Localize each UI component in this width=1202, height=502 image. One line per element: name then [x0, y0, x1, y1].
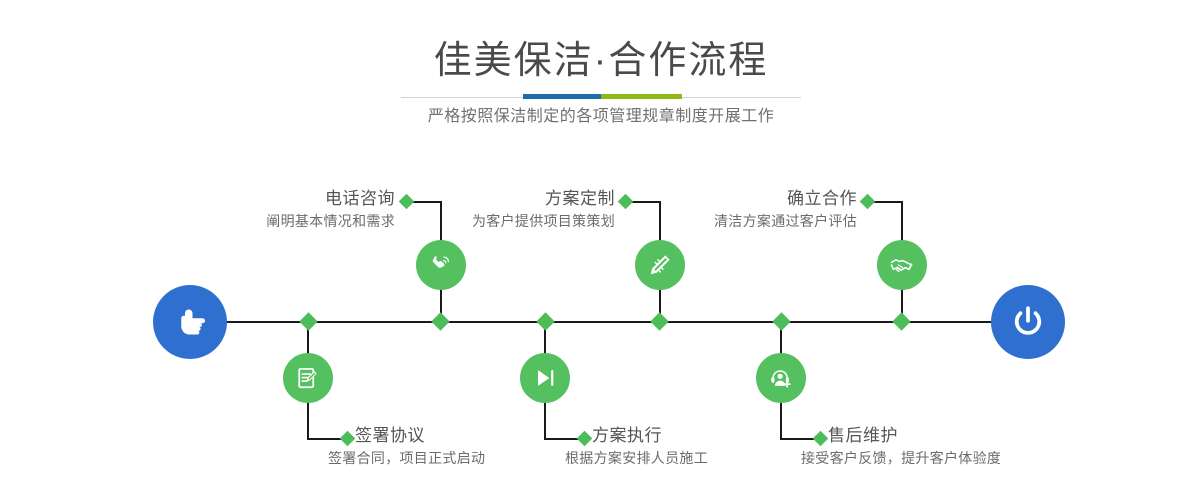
- marker-step-6-axis: [772, 312, 790, 330]
- page-subtitle: 严格按照保洁制定的各项管理规章制度开展工作: [0, 104, 1202, 130]
- handshake-icon: [888, 251, 916, 279]
- step-node-1[interactable]: [416, 240, 466, 290]
- step-2-name: 签署协议: [355, 425, 485, 447]
- step-3-name: 方案定制: [390, 188, 615, 210]
- title-divider: [401, 94, 801, 100]
- marker-step-5-axis: [892, 312, 910, 330]
- marker-step-3-axis: [650, 312, 668, 330]
- timeline-end-endpoint: [991, 285, 1065, 359]
- step-6-desc: 接受客户反馈，提升客户体验度: [801, 447, 1001, 469]
- customer-service-add-icon: [767, 364, 795, 392]
- step-label-4: 方案执行 根据方案安排人员施工: [592, 425, 708, 469]
- connector-step-5-horizontal: [871, 201, 903, 203]
- step-node-4[interactable]: [520, 353, 570, 403]
- step-label-6: 售后维护 接受客户反馈，提升客户体验度: [828, 425, 1001, 469]
- marker-step-2-axis: [299, 312, 317, 330]
- step-4-desc: 根据方案安排人员施工: [565, 447, 708, 469]
- step-node-2[interactable]: [283, 353, 333, 403]
- marker-step-4-axis: [536, 312, 554, 330]
- page-title: 佳美保洁·合作流程: [0, 38, 1202, 84]
- step-2-desc: 签署合同，项目正式启动: [328, 447, 485, 469]
- timeline-start-endpoint: [153, 285, 227, 359]
- step-node-5[interactable]: [877, 240, 927, 290]
- play-execute-icon: [531, 364, 559, 392]
- step-6-name: 售后维护: [828, 425, 1001, 447]
- step-label-1: 电话咨询 阐明基本情况和需求: [155, 188, 395, 232]
- step-5-name: 确立合作: [630, 188, 857, 210]
- step-5-desc: 清洁方案通过客户评估: [630, 210, 857, 232]
- marker-step-1-axis: [431, 312, 449, 330]
- step-1-name: 电话咨询: [155, 188, 395, 210]
- step-node-6[interactable]: [756, 353, 806, 403]
- step-node-3[interactable]: [635, 240, 685, 290]
- marker-step-4-label: [577, 431, 593, 447]
- step-3-desc: 为客户提供项目策策划: [390, 210, 615, 232]
- process-flow-infographic: 佳美保洁·合作流程 严格按照保洁制定的各项管理规章制度开展工作 电话咨询 阐明基…: [0, 0, 1202, 502]
- step-label-3: 方案定制 为客户提供项目策策划: [390, 188, 615, 232]
- marker-step-6-label: [813, 431, 829, 447]
- step-label-2: 签署协议 签署合同，项目正式启动: [355, 425, 485, 469]
- divider-segment-blue: [523, 94, 601, 99]
- timeline-axis: [155, 321, 1047, 323]
- marker-step-2-label: [340, 431, 356, 447]
- divider-segment-green: [601, 94, 682, 99]
- step-1-desc: 阐明基本情况和需求: [155, 210, 395, 232]
- phone-call-icon: [427, 251, 455, 279]
- power-icon: [1008, 302, 1048, 342]
- marker-step-5-label: [860, 194, 876, 210]
- pencil-ruler-icon: [646, 251, 674, 279]
- pointing-hand-icon: [170, 302, 210, 342]
- step-label-5: 确立合作 清洁方案通过客户评估: [630, 188, 857, 232]
- document-edit-icon: [294, 364, 322, 392]
- step-4-name: 方案执行: [592, 425, 708, 447]
